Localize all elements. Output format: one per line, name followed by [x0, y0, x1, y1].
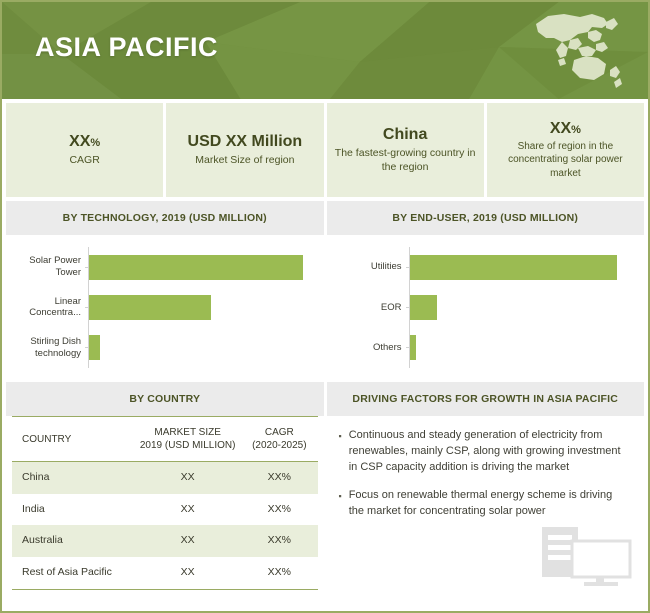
bar-linear-concentrator	[89, 295, 211, 320]
bar-row	[89, 254, 314, 280]
bullet-icon: ▪	[339, 432, 342, 476]
kpi-row: XX% CAGR USD XX Million Market Size of r…	[2, 99, 648, 197]
cell-market-size: XX	[134, 462, 241, 494]
chart-category-labels: Solar Power Tower Linear Concentra... St…	[10, 247, 88, 368]
cell-cagr: XX%	[241, 462, 317, 494]
chart-plot-area	[409, 247, 635, 368]
column-header-cagr: CAGR (2020-2025)	[241, 417, 317, 462]
charts-row: BY TECHNOLOGY, 2019 (USD MILLION) Solar …	[2, 197, 648, 378]
cell-country: Rest of Asia Pacific	[12, 557, 134, 589]
column-header-country: COUNTRY	[12, 417, 134, 462]
table-row: India XX XX%	[12, 494, 318, 526]
kpi-card-cagr: XX% CAGR	[6, 103, 163, 197]
bar-others	[410, 335, 416, 360]
kpi-label: The fastest-growing country in the regio…	[335, 146, 476, 174]
cell-cagr: XX%	[241, 525, 317, 557]
kpi-card-region-share: XX% Share of region in the concentrating…	[487, 103, 644, 197]
bar-stirling-dish	[89, 335, 100, 360]
technology-bar-chart: Solar Power Tower Linear Concentra... St…	[6, 235, 324, 378]
cell-market-size: XX	[134, 525, 241, 557]
kpi-label: Share of region in the concentrating sol…	[495, 140, 636, 181]
bar-eor	[410, 295, 438, 320]
cell-country: Australia	[12, 525, 134, 557]
drivers-list: ▪ Continuous and steady generation of el…	[327, 416, 645, 591]
panel-header-enduser: BY END-USER, 2019 (USD MILLION)	[327, 201, 645, 235]
kpi-card-fastest-country: China The fastest-growing country in the…	[327, 103, 484, 197]
panel-country: BY COUNTRY COUNTRY MARKET SIZE 2019 (USD…	[6, 382, 324, 591]
bullet-icon: ▪	[339, 492, 342, 520]
list-item: ▪ Focus on renewable thermal energy sche…	[339, 488, 631, 520]
monitor-and-document-watermark-icon	[534, 527, 638, 589]
panel-header-drivers: DRIVING FACTORS FOR GROWTH IN ASIA PACIF…	[327, 382, 645, 416]
column-header-market-size: MARKET SIZE 2019 (USD MILLION)	[134, 417, 241, 462]
table-row: Australia XX XX%	[12, 525, 318, 557]
country-table: COUNTRY MARKET SIZE 2019 (USD MILLION) C…	[12, 416, 318, 590]
list-item: ▪ Continuous and steady generation of el…	[339, 428, 631, 476]
panel-header-country: BY COUNTRY	[6, 382, 324, 416]
kpi-value: XX%	[550, 120, 581, 138]
bar-utilities	[410, 255, 617, 280]
table-header-row: COUNTRY MARKET SIZE 2019 (USD MILLION) C…	[12, 417, 318, 462]
page-title: ASIA PACIFIC	[35, 32, 218, 63]
kpi-label: Market Size of region	[195, 153, 294, 167]
cat-label: Utilities	[331, 261, 409, 273]
chart-plot-area	[88, 247, 314, 368]
infographic-frame: ASIA PACIFIC XX% CAGR USD XX Milli	[0, 0, 650, 613]
kpi-card-market-size: USD XX Million Market Size of region	[166, 103, 323, 197]
bar-row	[410, 294, 635, 320]
page-header: ASIA PACIFIC	[2, 2, 648, 99]
panel-header-technology: BY TECHNOLOGY, 2019 (USD MILLION)	[6, 201, 324, 235]
table-row: China XX XX%	[12, 462, 318, 494]
cell-cagr: XX%	[241, 557, 317, 589]
bar-row	[410, 254, 635, 280]
asia-pacific-map-icon	[518, 8, 636, 94]
kpi-value: China	[383, 126, 427, 144]
kpi-label: CAGR	[69, 153, 99, 167]
bar-row	[410, 335, 635, 361]
driver-text: Continuous and steady generation of elec…	[349, 428, 630, 476]
panel-enduser: BY END-USER, 2019 (USD MILLION) Utilitie…	[327, 201, 645, 378]
cat-label: Solar Power Tower	[10, 255, 88, 279]
chart-category-labels: Utilities EOR Others	[331, 247, 409, 368]
panel-drivers: DRIVING FACTORS FOR GROWTH IN ASIA PACIF…	[327, 382, 645, 591]
panel-technology: BY TECHNOLOGY, 2019 (USD MILLION) Solar …	[6, 201, 324, 378]
cell-market-size: XX	[134, 494, 241, 526]
cat-label: Stirling Dish technology	[10, 336, 88, 360]
cell-cagr: XX%	[241, 494, 317, 526]
bar-row	[89, 294, 314, 320]
cell-country: China	[12, 462, 134, 494]
bottom-row: BY COUNTRY COUNTRY MARKET SIZE 2019 (USD…	[2, 378, 648, 591]
bar-solar-power-tower	[89, 255, 303, 280]
cat-label: EOR	[331, 302, 409, 314]
kpi-value: USD XX Million	[188, 133, 303, 151]
cat-label: Others	[331, 342, 409, 354]
cell-country: India	[12, 494, 134, 526]
enduser-bar-chart: Utilities EOR Others	[327, 235, 645, 378]
cell-market-size: XX	[134, 557, 241, 589]
cat-label: Linear Concentra...	[10, 296, 88, 320]
bar-row	[89, 335, 314, 361]
driver-text: Focus on renewable thermal energy scheme…	[349, 488, 630, 520]
kpi-value: XX%	[69, 133, 100, 151]
table-row: Rest of Asia Pacific XX XX%	[12, 557, 318, 589]
